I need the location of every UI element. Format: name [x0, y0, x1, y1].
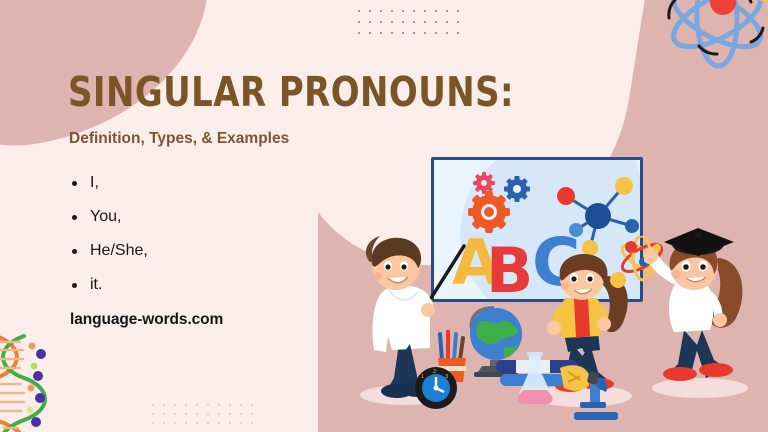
pronoun-list: I, You, He/She, it.: [72, 166, 332, 302]
list-item-label: it.: [90, 276, 102, 294]
list-item-label: You,: [90, 208, 121, 226]
dna-helix-icon: [0, 332, 56, 432]
list-item: He/She,: [72, 234, 332, 268]
list-item: You,: [72, 200, 332, 234]
svg-text:3: 3: [445, 374, 448, 380]
poster-canvas: SINGULAR PRONOUNS: Definition, Types, & …: [0, 0, 768, 432]
list-item: it.: [72, 268, 332, 302]
lightbulb-icon: [556, 360, 604, 396]
bullet-dot-icon: [72, 181, 77, 186]
clock-icon: 123: [414, 366, 458, 410]
website-url: language-words.com: [70, 311, 223, 329]
svg-text:2: 2: [433, 369, 436, 375]
page-subtitle: Definition, Types, & Examples: [69, 130, 289, 148]
bullet-dot-icon: [72, 249, 77, 254]
page-title: SINGULAR PRONOUNS:: [68, 68, 514, 116]
list-item: I,: [72, 166, 332, 200]
bullet-dot-icon: [72, 215, 77, 220]
list-item-label: He/She,: [90, 242, 148, 260]
svg-text:1: 1: [421, 374, 424, 380]
girl-with-graduation-cap: [644, 222, 768, 392]
flask-icon: [512, 352, 558, 404]
gear-icon-large: [462, 172, 540, 234]
atom-icon-top-right: [655, 0, 768, 76]
letter-b: B: [486, 240, 533, 302]
bullet-dot-icon: [72, 283, 77, 288]
list-item-label: I,: [90, 174, 99, 192]
